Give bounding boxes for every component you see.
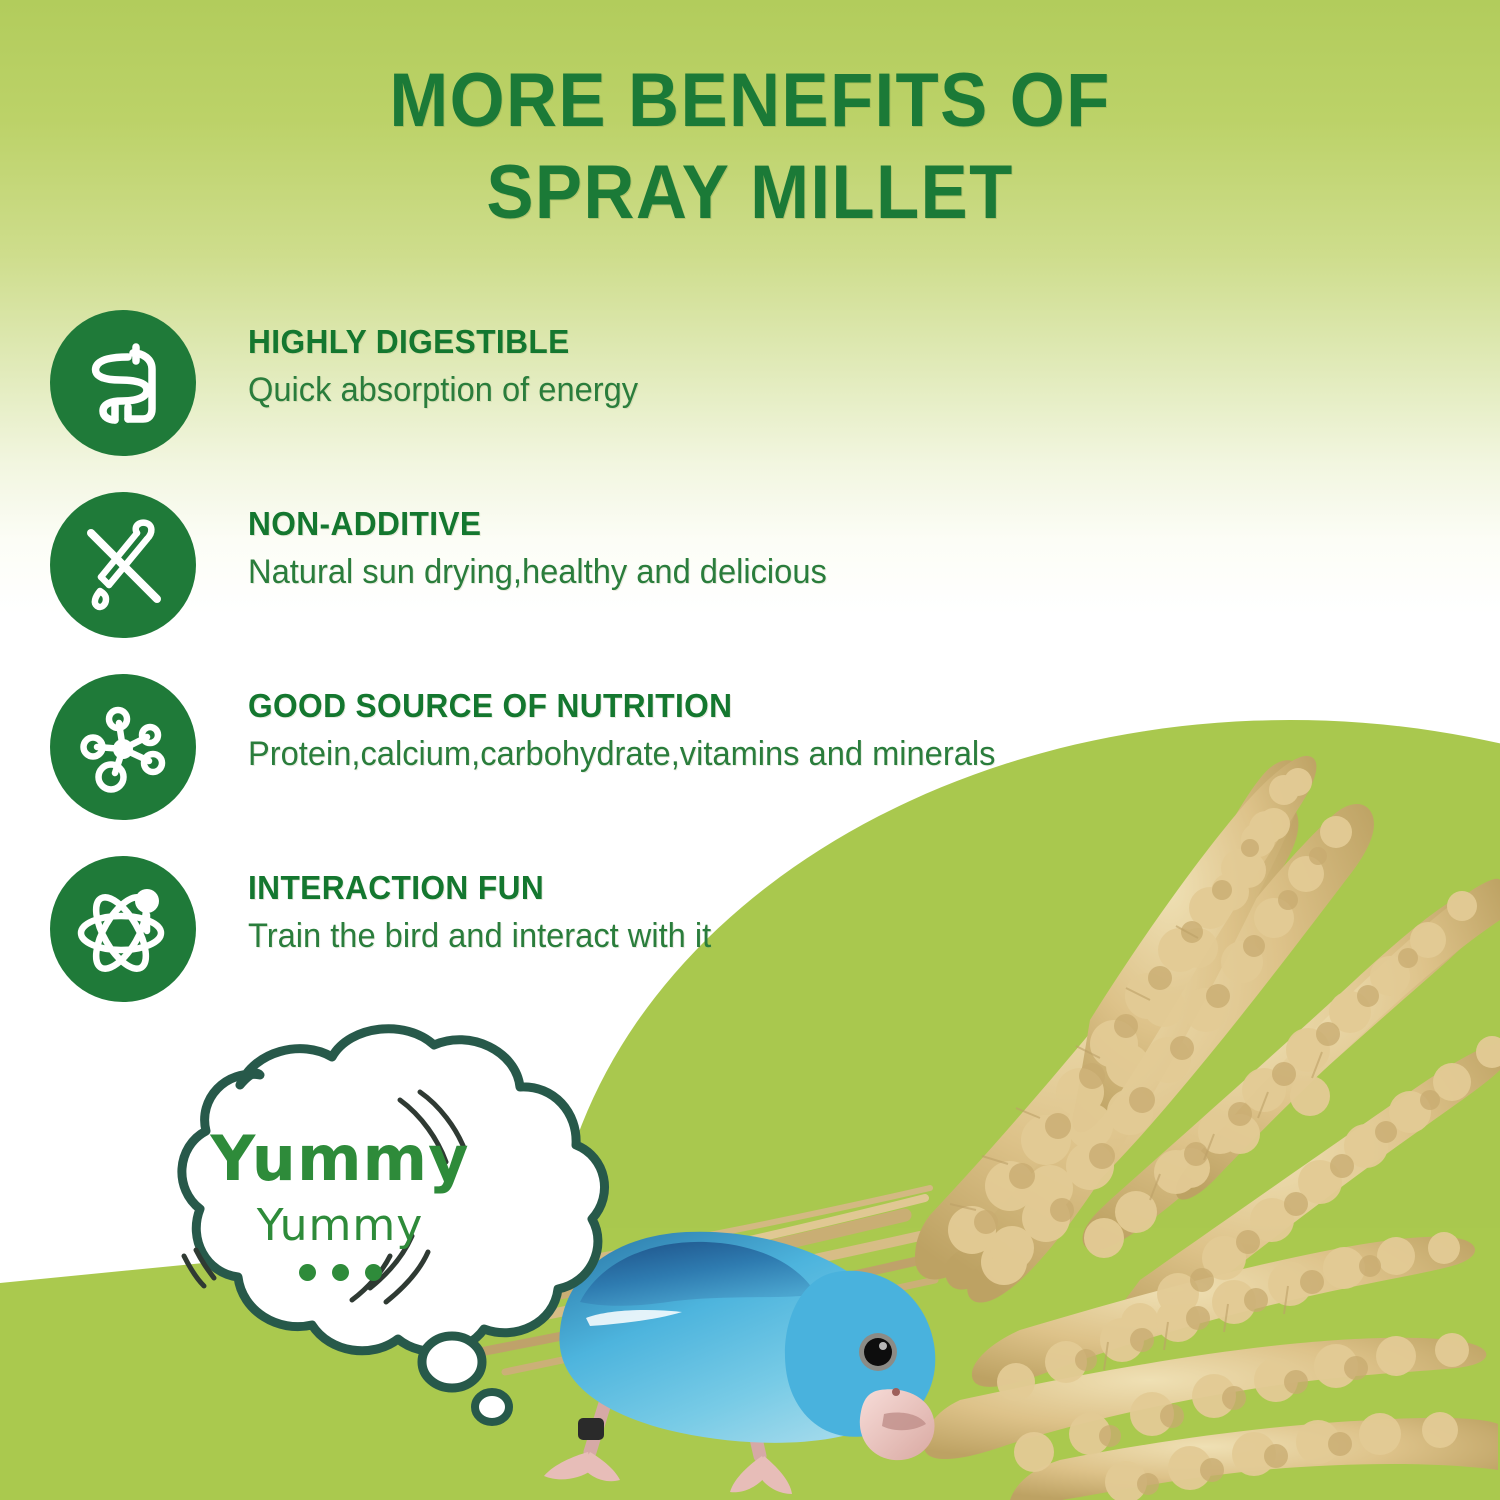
leg-band bbox=[578, 1418, 604, 1440]
benefit-text-block: HIGHLY DIGESTIBLE Quick absorption of en… bbox=[248, 322, 1200, 411]
benefit-item-interaction-fun: INTERACTION FUN Train the bird and inter… bbox=[0, 846, 1200, 1028]
benefit-title: HIGHLY DIGESTIBLE bbox=[248, 322, 1162, 362]
bird-eye bbox=[864, 1338, 892, 1366]
benefit-item-good-source-of-nutrition: GOOD SOURCE OF NUTRITION Protein,calcium… bbox=[0, 664, 1200, 846]
benefit-text-block: INTERACTION FUN Train the bird and inter… bbox=[248, 868, 1200, 957]
benefits-list: HIGHLY DIGESTIBLE Quick absorption of en… bbox=[0, 300, 1200, 1028]
benefit-title: INTERACTION FUN bbox=[248, 868, 1162, 908]
atom-interaction-icon bbox=[50, 856, 196, 1002]
benefit-title: NON-ADDITIVE bbox=[248, 504, 1162, 544]
benefit-text-block: GOOD SOURCE OF NUTRITION Protein,calcium… bbox=[248, 686, 1200, 775]
benefit-description: Quick absorption of energy bbox=[248, 369, 1162, 412]
benefit-item-non-additive: NON-ADDITIVE Natural sun drying,healthy … bbox=[0, 482, 1200, 664]
benefit-text-block: NON-ADDITIVE Natural sun drying,healthy … bbox=[248, 504, 1200, 593]
benefit-description: Natural sun drying,healthy and delicious bbox=[248, 551, 1162, 594]
benefit-description: Protein,calcium,carbohydrate,vitamins an… bbox=[248, 733, 1162, 776]
no-additive-dropper-icon bbox=[50, 492, 196, 638]
benefit-title: GOOD SOURCE OF NUTRITION bbox=[248, 686, 1162, 726]
infographic-canvas: MORE BENEFITS OF SPRAY MILLET HIGHLY DIG… bbox=[0, 0, 1500, 1500]
benefit-item-highly-digestible: HIGHLY DIGESTIBLE Quick absorption of en… bbox=[0, 300, 1200, 482]
benefit-description: Train the bird and interact with it bbox=[248, 915, 1162, 958]
intestine-icon bbox=[50, 310, 196, 456]
molecule-nutrition-icon bbox=[50, 674, 196, 820]
